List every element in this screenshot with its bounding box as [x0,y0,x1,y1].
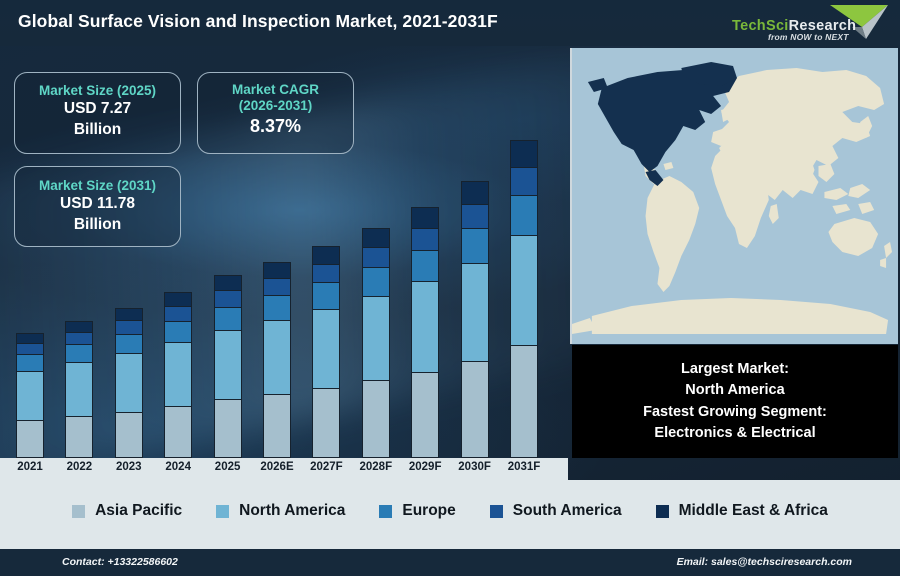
bar-segment [214,290,242,306]
bar-segment [312,246,340,264]
legend-item-north-america[interactable]: North America [216,502,345,520]
legend-item-asia-pacific[interactable]: Asia Pacific [72,502,182,520]
callout-box: Largest Market: North America Fastest Gr… [572,345,898,458]
bar-segment [263,278,291,295]
bar-segment [461,228,489,263]
axis-tick-2030F: 2030F [455,461,495,473]
bar-segment [16,333,44,343]
axis-tick-2027F: 2027F [306,461,346,473]
bar-segment [510,167,538,195]
bar-segment [164,342,192,406]
axis-tick-2024: 2024 [158,461,198,473]
bar-segment [510,140,538,167]
legend-label: Asia Pacific [95,502,182,520]
bar-segment [214,399,242,458]
callout-line-1: Largest Market: [681,359,789,380]
bar-segment [164,306,192,321]
bar-segment [164,292,192,305]
infographic-root: Global Surface Vision and Inspection Mar… [0,0,900,576]
bar-segment [510,235,538,345]
axis-tick-2021: 2021 [10,461,50,473]
bar-segment [411,281,439,371]
axis-tick-2028F: 2028F [356,461,396,473]
bar-segment [510,345,538,458]
bar-segment [411,228,439,250]
bar-segment [362,380,390,458]
bar-segment [362,228,390,247]
card-value-line2: Billion [15,215,180,235]
bar-segment [115,412,143,458]
card-market-cagr: Market CAGR (2026-2031) 8.37% [197,72,354,154]
bar-segment [16,371,44,421]
bar-segment [16,354,44,370]
bar-segment [362,296,390,380]
bar-segment [461,204,489,228]
bar-2030F [461,181,489,458]
page-title: Global Surface Vision and Inspection Mar… [18,11,498,32]
bar-2025 [214,275,242,458]
chart-legend: Asia PacificNorth AmericaEuropeSouth Ame… [0,480,900,542]
bar-2023 [115,308,143,458]
bar-segment [115,353,143,412]
legend-label: Europe [402,502,455,520]
card-market-size-2031: Market Size (2031) USD 11.78 Billion [14,166,181,247]
card-label-line1: Market CAGR [198,82,353,98]
bar-segment [115,320,143,333]
axis-tick-2023: 2023 [109,461,149,473]
card-label-line2: (2026-2031) [198,98,353,114]
bar-segment [461,263,489,361]
bar-2031F [510,140,538,458]
bar-2029F [411,207,439,458]
card-label: Market Size (2025) [15,83,180,99]
legend-item-south-america[interactable]: South America [490,502,622,520]
card-market-size-2025: Market Size (2025) USD 7.27 Billion [14,72,181,154]
bar-segment [65,362,93,416]
bar-2021 [16,333,44,458]
bar-segment [362,267,390,296]
bar-segment [164,406,192,458]
bar-segment [510,195,538,235]
footer-email: Email: sales@techsciresearch.com [677,556,852,568]
bar-segment [461,361,489,458]
bar-2022 [65,321,93,458]
header-bar: Global Surface Vision and Inspection Mar… [0,0,900,46]
bar-2024 [164,292,192,458]
legend-swatch [379,505,392,518]
bar-2026E [263,262,291,458]
bar-2027F [312,246,340,458]
legend-swatch [490,505,503,518]
legend-label: North America [239,502,345,520]
bar-2028F [362,228,390,458]
bar-segment [461,181,489,204]
world-map [570,48,898,344]
bar-segment [164,321,192,342]
bar-segment [411,207,439,228]
legend-swatch [72,505,85,518]
bar-segment [214,275,242,290]
bar-segment [312,282,340,309]
legend-swatch [216,505,229,518]
footer-bar: Contact: +13322586602 Email: sales@techs… [0,549,900,576]
bar-segment [263,295,291,320]
card-label: Market Size (2031) [15,178,180,194]
card-value-line2: Billion [15,120,180,140]
legend-swatch [656,505,669,518]
bar-segment [16,420,44,458]
bar-segment [16,343,44,354]
bar-segment [411,372,439,458]
footer-contact: Contact: +13322586602 [62,556,178,568]
callout-line-4: Electronics & Electrical [654,423,815,444]
bar-segment [115,334,143,353]
bar-segment [263,262,291,278]
bar-segment [263,320,291,394]
legend-label: Middle East & Africa [679,502,828,520]
card-value-line1: USD 7.27 [15,99,180,119]
legend-item-middle-east-africa[interactable]: Middle East & Africa [656,502,828,520]
axis-tick-2025: 2025 [208,461,248,473]
axis-tick-2022: 2022 [59,461,99,473]
card-value-line1: USD 11.78 [15,194,180,214]
bar-segment [65,344,93,362]
callout-line-3: Fastest Growing Segment: [643,402,827,423]
bar-segment [362,247,390,267]
bar-segment [312,388,340,458]
card-value: 8.37% [198,115,353,138]
bar-segment [65,321,93,332]
bar-segment [312,309,340,388]
axis-tick-2029F: 2029F [405,461,445,473]
world-map-svg [572,48,898,344]
legend-label: South America [513,502,622,520]
logo-tagline: from NOW to NEXT [768,32,849,42]
axis-tick-2031F: 2031F [504,461,544,473]
bar-segment [312,264,340,283]
bar-segment [411,250,439,282]
bar-segment [214,307,242,330]
bar-segment [214,330,242,400]
axis-tick-2026E: 2026E [257,461,297,473]
legend-item-europe[interactable]: Europe [379,502,455,520]
bar-segment [263,394,291,458]
bar-segment [65,332,93,344]
callout-line-2: North America [685,380,784,401]
chart-x-axis: 202120222023202420252026E2027F2028F2029F… [0,458,568,480]
bar-segment [115,308,143,320]
bar-segment [65,416,93,458]
techsci-logo: TechSciResearch from NOW to NEXT [724,2,894,44]
